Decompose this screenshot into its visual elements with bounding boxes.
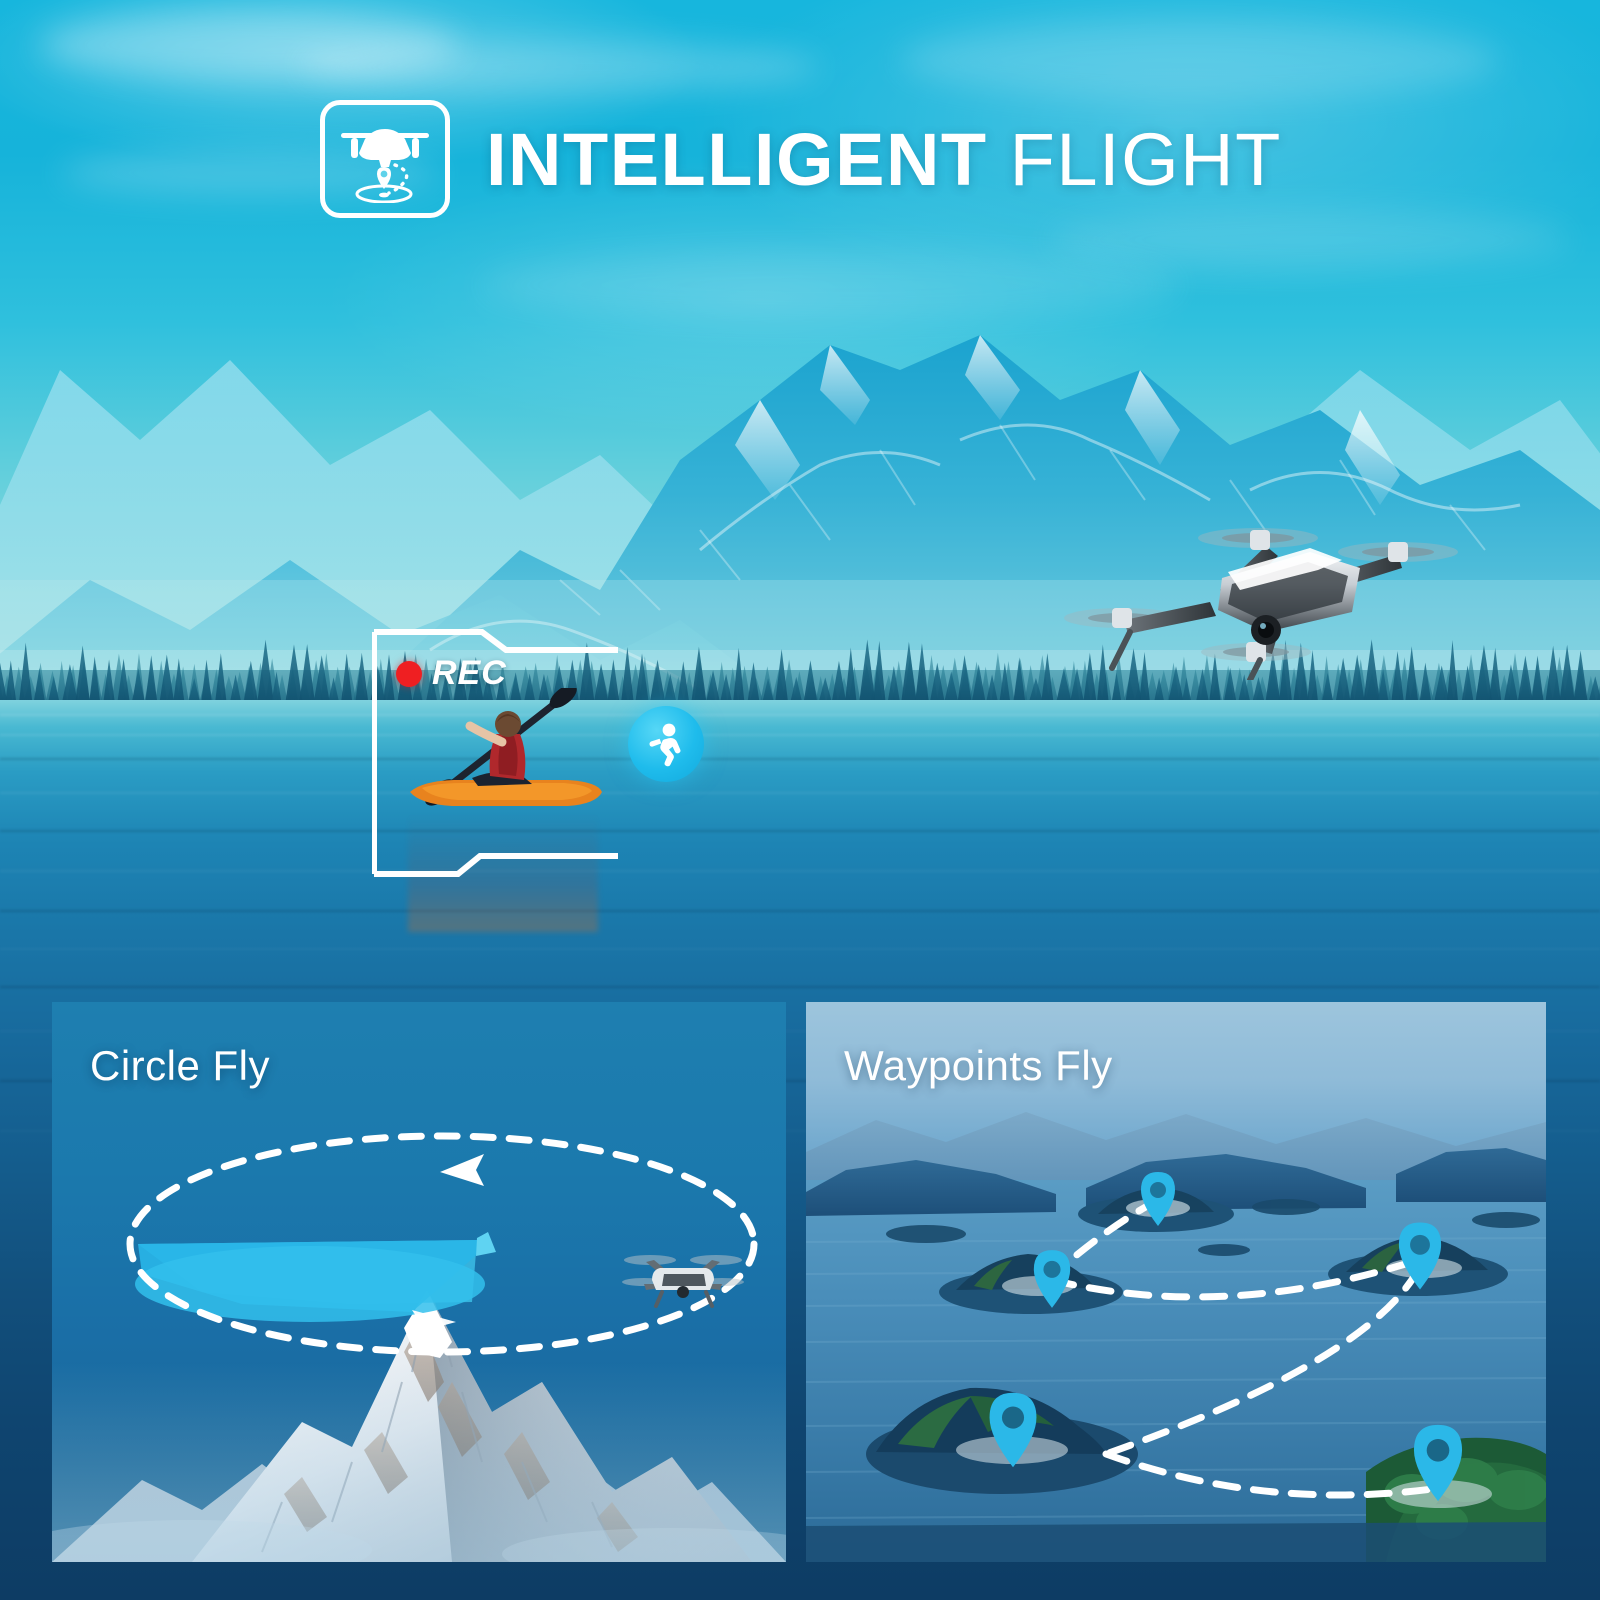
intelligent-flight-badge [320,100,450,218]
panel-label-circle-fly: Circle Fly [90,1042,270,1090]
rec-label: REC [432,654,507,693]
page-title: INTELLIGENT FLIGHT [486,117,1282,202]
waypoint-island [939,1254,1123,1314]
shore-foreground [1366,1438,1546,1562]
waypoint-pin-icon[interactable] [1028,1248,1076,1310]
waypoint-island [1328,1236,1508,1296]
waypoint-island [866,1388,1138,1494]
title-light: FLIGHT [1010,118,1282,201]
panel-label-waypoints-fly: Waypoints Fly [844,1042,1113,1090]
waypoint-pin-icon[interactable] [1406,1422,1470,1504]
waypoint-pin-icon[interactable] [1136,1170,1180,1228]
title-bold: INTELLIGENT [486,118,988,201]
circle-fly-drone-icon [618,1238,748,1328]
drone-waypoint-icon [339,115,431,203]
waypoint-island [1078,1188,1234,1232]
panel-waypoints-fly[interactable]: Waypoints Fly [806,1002,1546,1562]
panel-circle-fly[interactable]: Circle Fly [52,1002,786,1562]
running-person-icon [643,721,689,767]
circle-fly-mountain [52,1232,786,1562]
circle-fly-haze [52,1362,786,1562]
record-dot-icon [396,661,422,687]
page-header: INTELLIGENT FLIGHT [320,100,1282,218]
rec-indicator: REC [396,654,507,693]
follow-me-mode-badge[interactable] [628,706,704,782]
waypoint-pin-icon[interactable] [982,1390,1044,1470]
waypoint-pin-icon[interactable] [1392,1220,1448,1292]
intelligent-flight-feature-image: REC [0,0,1600,1600]
